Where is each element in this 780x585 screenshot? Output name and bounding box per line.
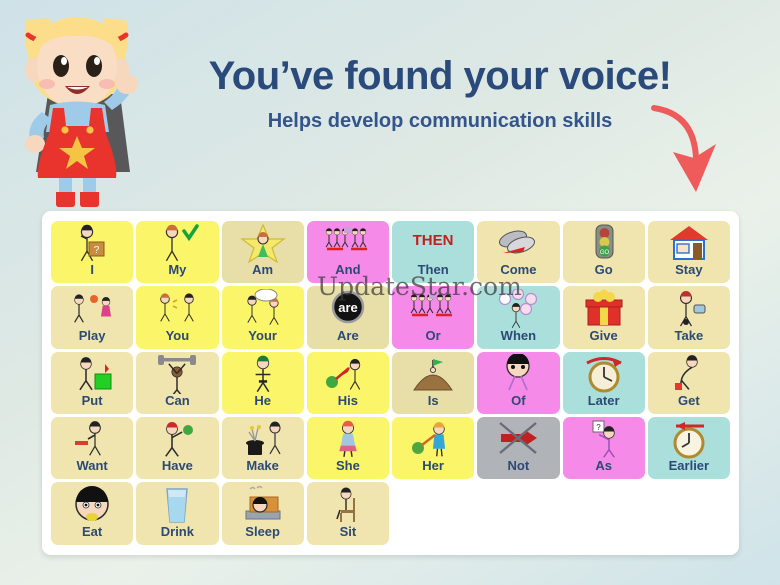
card-label: Of xyxy=(511,394,525,410)
card-not[interactable]: Not xyxy=(477,417,559,479)
card-when[interactable]: When xyxy=(477,286,559,348)
card-your[interactable]: Your xyxy=(222,286,304,348)
card-label: Can xyxy=(165,394,190,410)
card-go[interactable]: GOGo xyxy=(563,221,645,283)
card-she[interactable]: She xyxy=(307,417,389,479)
card-sit[interactable]: Sit xyxy=(307,482,389,545)
card-sleep[interactable]: Sleep xyxy=(222,482,304,545)
crossed-arrow-icon xyxy=(477,417,559,459)
card-label: Give xyxy=(590,329,618,345)
card-of[interactable]: Of xyxy=(477,352,559,414)
card-label: Earlier xyxy=(669,459,709,475)
card-play[interactable]: Play xyxy=(51,286,133,348)
card-label: Want xyxy=(76,459,107,475)
card-label: Take xyxy=(675,329,704,345)
gift-box-icon xyxy=(563,286,645,328)
card-then[interactable]: THENThen xyxy=(392,221,474,283)
card-label: Sleep xyxy=(245,525,280,541)
person-reaching-icon xyxy=(51,417,133,459)
card-label: As xyxy=(595,459,612,475)
card-later[interactable]: Later xyxy=(563,352,645,414)
person-thinking-box-icon: ? xyxy=(51,221,133,263)
card-drink[interactable]: Drink xyxy=(136,482,218,545)
card-his[interactable]: His xyxy=(307,352,389,414)
card-put[interactable]: Put xyxy=(51,352,133,414)
card-label: Stay xyxy=(675,263,702,279)
card-eat[interactable]: Eat xyxy=(51,482,133,545)
card-her[interactable]: Her xyxy=(392,417,474,479)
card-am[interactable]: Am xyxy=(222,221,304,283)
person-sleeping-bed-icon xyxy=(222,482,304,525)
card-come[interactable]: Come xyxy=(477,221,559,283)
card-label: Come xyxy=(500,263,536,279)
person-lifting-weights-icon xyxy=(136,352,218,394)
clock-backward-icon xyxy=(648,417,730,459)
card-can[interactable]: Can xyxy=(136,352,218,414)
person-sitting-chair-icon xyxy=(307,482,389,525)
two-people-talking-icon xyxy=(136,286,218,328)
person-holding-ball-icon xyxy=(136,417,218,459)
card-label: Your xyxy=(248,329,277,345)
card-label: Play xyxy=(79,329,106,345)
card-as[interactable]: ?As xyxy=(563,417,645,479)
card-stay[interactable]: Stay xyxy=(648,221,730,283)
page-title: You’ve found your voice! xyxy=(160,55,720,97)
card-label: Get xyxy=(678,394,700,410)
card-label: Later xyxy=(588,394,620,410)
card-and[interactable]: And xyxy=(307,221,389,283)
card-label: She xyxy=(336,459,360,475)
card-label: Then xyxy=(418,263,449,279)
girl-standing-icon xyxy=(307,417,389,459)
mascot-illustration xyxy=(8,2,158,207)
card-label: Put xyxy=(82,394,103,410)
svg-text:are: are xyxy=(338,300,358,315)
card-label: When xyxy=(501,329,536,345)
card-earlier[interactable]: Earlier xyxy=(648,417,730,479)
card-label: He xyxy=(254,394,271,410)
glass-of-water-icon xyxy=(136,482,218,525)
boy-standing-icon xyxy=(222,352,304,394)
traffic-light-go-icon: GO xyxy=(563,221,645,263)
card-label: Drink xyxy=(161,525,194,541)
card-label: Or xyxy=(426,329,441,345)
shoes-arrow-icon xyxy=(477,221,559,263)
clock-forward-icon xyxy=(563,352,645,394)
card-get[interactable]: Get xyxy=(648,352,730,414)
person-checkmark-icon xyxy=(136,221,218,263)
person-placing-box-icon xyxy=(51,352,133,394)
svg-text:?: ? xyxy=(94,245,100,256)
hill-flag-icon xyxy=(392,352,474,394)
card-label: Not xyxy=(508,459,530,475)
card-give[interactable]: Give xyxy=(563,286,645,348)
card-label: You xyxy=(166,329,190,345)
card-label: Make xyxy=(246,459,279,475)
card-label: Go xyxy=(595,263,613,279)
two-children-ball-icon xyxy=(51,286,133,328)
child-in-star-icon xyxy=(222,221,304,263)
card-want[interactable]: Want xyxy=(51,417,133,479)
two-groups-plus-icon xyxy=(307,221,389,263)
card-label: My xyxy=(168,263,186,279)
person-speech-bubble-icon xyxy=(222,286,304,328)
person-taking-icon xyxy=(648,286,730,328)
card-or[interactable]: Or xyxy=(392,286,474,348)
svg-text:GO: GO xyxy=(599,250,609,256)
person-clock-dots-icon xyxy=(477,286,559,328)
card-label: His xyxy=(338,394,358,410)
communication-card-grid: ?IMyAmAndTHENThenComeGOGoStayPlayYouYour… xyxy=(51,221,730,545)
card-label: And xyxy=(335,263,360,279)
person-pointing-ball-icon xyxy=(307,352,389,394)
card-have[interactable]: Have xyxy=(136,417,218,479)
card-label: Are xyxy=(337,329,359,345)
face-parts-icon xyxy=(477,352,559,394)
card-is[interactable]: Is xyxy=(392,352,474,414)
then-word-icon: THEN xyxy=(392,221,474,263)
svg-text:THEN: THEN xyxy=(413,232,454,249)
card-make[interactable]: Make xyxy=(222,417,304,479)
card-i[interactable]: ?I xyxy=(51,221,133,283)
svg-text:?: ? xyxy=(596,423,601,432)
card-label: Is xyxy=(428,394,439,410)
house-icon xyxy=(648,221,730,263)
person-magic-hat-icon xyxy=(222,417,304,459)
curved-arrow-icon xyxy=(632,96,737,206)
card-are[interactable]: areAre xyxy=(307,286,389,348)
card-my[interactable]: My xyxy=(136,221,218,283)
card-take[interactable]: Take xyxy=(648,286,730,348)
card-he[interactable]: He xyxy=(222,352,304,414)
card-label: I xyxy=(90,263,94,279)
are-badge-icon: are xyxy=(307,286,389,328)
card-you[interactable]: You xyxy=(136,286,218,348)
person-holding-card-icon: ? xyxy=(563,417,645,459)
two-groups-choice-icon xyxy=(392,286,474,328)
communication-board-panel: ?IMyAmAndTHENThenComeGOGoStayPlayYouYour… xyxy=(42,211,739,555)
face-eating-icon xyxy=(51,482,133,525)
person-picking-up-icon xyxy=(648,352,730,394)
card-label: Am xyxy=(252,263,273,279)
girl-with-ball-icon xyxy=(392,417,474,459)
card-label: Eat xyxy=(82,525,102,541)
card-label: Sit xyxy=(340,525,357,541)
card-label: Have xyxy=(162,459,193,475)
card-label: Her xyxy=(422,459,444,475)
